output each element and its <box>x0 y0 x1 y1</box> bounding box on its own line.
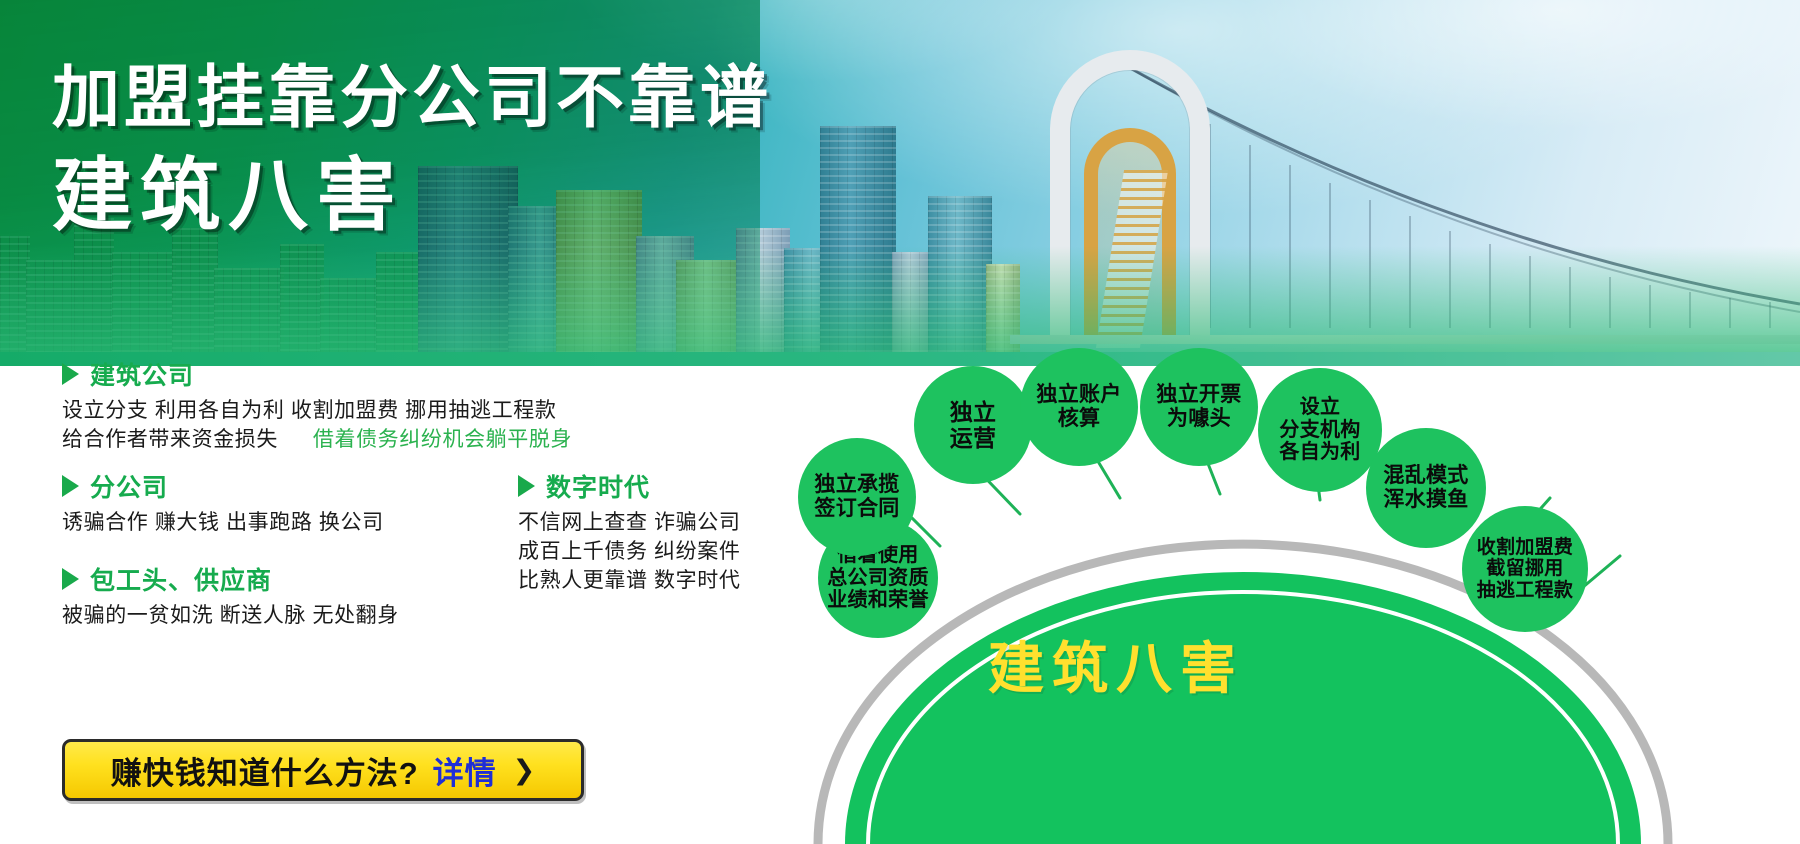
hero-baseline <box>0 352 1800 366</box>
section-heading-label: 包工头、供应商 <box>90 561 272 597</box>
bubble-independent-account[interactable]: 独立账户 核算 <box>1020 348 1138 466</box>
body-text: 成百上千债务 纠纷案件 <box>518 540 740 563</box>
body-text: 不信网上查查 诈骗公司 <box>518 511 740 534</box>
section-body-line: 成百上千债务 纠纷案件 <box>518 537 740 566</box>
hero-title-line2: 建筑八害 <box>52 148 772 244</box>
bubble-line: 浑水摸鱼 <box>1379 488 1472 512</box>
bubble-line: 总公司资质 <box>823 567 933 590</box>
bubble-chaotic-mode[interactable]: 混乱模式 浑水摸鱼 <box>1366 428 1486 548</box>
section-body-line: 诱骗合作 赚大钱 出事跑路 换公司 <box>62 508 384 537</box>
hero-title: 加盟挂靠分公司不靠谱 建筑八害 <box>52 56 772 244</box>
details-cta-button[interactable]: 赚快钱知道什么方法? 详情 ❯ <box>62 739 584 801</box>
triangle-bullet-icon <box>62 363 79 385</box>
bubble-line: 收割加盟费 <box>1473 537 1578 559</box>
bubble-line: 独立承揽 <box>810 473 903 497</box>
poster-root: 加盟挂靠分公司不靠谱 建筑八害 建筑公司 设立分支 利用各自为利 收割加盟费 挪… <box>0 0 1800 844</box>
section-heading-label: 数字时代 <box>546 468 650 504</box>
triangle-bullet-icon <box>62 475 79 497</box>
hero-bottom-fade <box>0 246 1800 366</box>
bubble-line: 抽逃工程款 <box>1473 580 1578 602</box>
bubble-harvest-franchise-fee[interactable]: 收割加盟费 截留挪用 抽逃工程款 <box>1462 506 1588 632</box>
bubble-independent-invoice[interactable]: 独立开票 为噱头 <box>1140 348 1258 466</box>
section-body-line: 设立分支 利用各自为利 收割加盟费 挪用抽逃工程款 <box>62 396 557 425</box>
hero-title-line1: 加盟挂靠分公司不靠谱 <box>52 56 772 140</box>
section-heading-branch-company: 分公司 <box>62 468 168 504</box>
triangle-bullet-icon <box>62 568 79 590</box>
section-heading-construction-company: 建筑公司 <box>62 356 194 392</box>
bubble-line: 独立 <box>946 399 1001 425</box>
section-body-line: 比熟人更靠谱 数字时代 <box>518 566 740 595</box>
section-heading-contractor-supplier: 包工头、供应商 <box>62 561 272 597</box>
chevron-right-icon: ❯ <box>513 755 536 786</box>
section-body-line: 被骗的一贫如洗 断送人脉 无处翻身 <box>62 601 399 630</box>
bubble-line: 混乱模式 <box>1379 464 1472 488</box>
bubble-line: 截留挪用 <box>1473 558 1578 580</box>
bubble-line: 签订合同 <box>810 497 903 521</box>
bubble-line: 分支机构 <box>1275 419 1364 442</box>
section-body-line: 给合作者带来资金损失 借着债务纠纷机会躺平脱身 <box>62 425 572 454</box>
bubble-line: 设立 <box>1275 396 1364 419</box>
body-text: 设立分支 利用各自为利 收割加盟费 挪用抽逃工程款 <box>62 399 557 422</box>
bubble-line: 独立开票 <box>1152 383 1245 407</box>
body-text-highlight: 借着债务纠纷机会躺平脱身 <box>313 428 572 451</box>
cta-details-link[interactable]: 详情 <box>433 748 497 793</box>
bubble-setup-branches[interactable]: 设立 分支机构 各自为利 <box>1258 368 1382 492</box>
bubble-line: 业绩和荣誉 <box>823 589 933 612</box>
bubble-line: 运营 <box>946 425 1001 451</box>
bubble-independent-operation[interactable]: 独立 运营 <box>914 366 1032 484</box>
bubble-independent-contracting[interactable]: 独立承揽 签订合同 <box>798 438 916 556</box>
section-heading-label: 建筑公司 <box>90 356 194 392</box>
dome-label: 建筑八害 <box>988 624 1244 705</box>
body-text: 被骗的一贫如洗 断送人脉 无处翻身 <box>62 604 399 627</box>
body-text: 诱骗合作 赚大钱 出事跑路 换公司 <box>62 511 384 534</box>
bubble-line: 各自为利 <box>1275 441 1364 464</box>
bubble-line: 核算 <box>1032 407 1125 431</box>
body-text: 比熟人更靠谱 数字时代 <box>518 569 740 592</box>
section-heading-label: 分公司 <box>90 468 168 504</box>
body-text: 给合作者带来资金损失 <box>62 428 278 451</box>
section-body-line: 不信网上查查 诈骗公司 <box>518 508 740 537</box>
bahai-diagram: 借着使用 总公司资质 业绩和荣誉 独立承揽 签订合同 独立 运营 独立账户 核算 <box>790 366 1800 844</box>
hero-banner: 加盟挂靠分公司不靠谱 建筑八害 <box>0 0 1800 366</box>
bubble-line: 独立账户 <box>1032 383 1125 407</box>
section-heading-digital-era: 数字时代 <box>518 468 650 504</box>
cta-question-label: 赚快钱知道什么方法? <box>111 748 419 793</box>
bubble-line: 为噱头 <box>1152 407 1245 431</box>
triangle-bullet-icon <box>518 475 535 497</box>
